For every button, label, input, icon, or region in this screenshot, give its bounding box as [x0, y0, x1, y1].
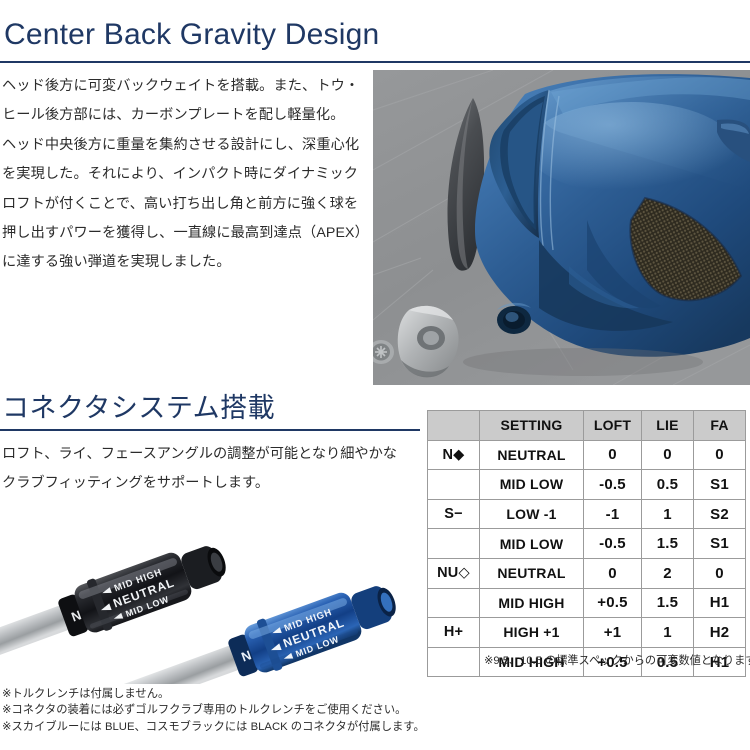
section1-line: ヒール後方部には、カーボンプレートを配し軽量化。 — [2, 101, 370, 130]
cell-fa: 0 — [694, 440, 746, 470]
section1-line: を実現した。それにより、インパクト時にダイナミック — [2, 160, 370, 189]
table-row: NU◇ NEUTRAL 0 2 0 — [428, 558, 746, 588]
cell-loft: 0 — [584, 558, 642, 588]
section1-title: Center Back Gravity Design — [4, 18, 379, 52]
table-row: S− LOW -1 -1 1 S2 — [428, 499, 746, 529]
cell-loft: 0 — [584, 440, 642, 470]
section1-line: に達する強い弾道を実現しました。 — [2, 248, 370, 277]
col-header-loft: LOFT — [584, 411, 642, 441]
section1-divider — [0, 61, 750, 63]
cell-setting: LOW -1 — [480, 499, 584, 529]
section1-line: ヘッド後方に可変バックウェイトを搭載。また、トウ・ — [2, 72, 370, 101]
section2-title: コネクタシステム搭載 — [2, 392, 275, 424]
col-header-fa: FA — [694, 411, 746, 441]
section2-line: ロフト、ライ、フェースアングルの調整が可能となり細やかな — [2, 440, 412, 469]
cell-fa: 0 — [694, 558, 746, 588]
section1-line: ロフトが付くことで、高い打ち出し角と前方に強く球を — [2, 190, 370, 219]
section2-divider — [0, 429, 420, 431]
col-header-lie: LIE — [642, 411, 694, 441]
cell-lie: 2 — [642, 558, 694, 588]
cell-loft: +0.5 — [584, 588, 642, 618]
cell-setting: MID HIGH — [480, 588, 584, 618]
cell-lie: 1.5 — [642, 588, 694, 618]
cell-loft: +1 — [584, 618, 642, 648]
connector-photo: MID HIGH NEUTRAL MID LOW N — [0, 512, 418, 684]
table-row: MID HIGH +0.5 1.5 H1 — [428, 588, 746, 618]
cell-fa: S2 — [694, 499, 746, 529]
section1-body: ヘッド後方に可変バックウェイトを搭載。また、トウ・ ヒール後方部には、カーボンプ… — [2, 72, 370, 278]
footnote-item: ※スカイブルーには BLUE、コスモブラックには BLACK のコネクタが付属し… — [2, 719, 425, 735]
club-head-photo — [373, 70, 750, 385]
spec-table-container: SETTING LOFT LIE FA N◆ NEUTRAL 0 0 0 MID… — [427, 410, 745, 677]
section1-line: 押し出すパワーを獲得し、一直線に最高到達点（APEX） — [2, 219, 370, 248]
cell-position: H+ — [428, 618, 480, 648]
cell-loft: -0.5 — [584, 470, 642, 500]
table-header-row: SETTING LOFT LIE FA — [428, 411, 746, 441]
cell-setting: NEUTRAL — [480, 558, 584, 588]
cell-lie: 1 — [642, 499, 694, 529]
cell-loft: -0.5 — [584, 529, 642, 559]
cell-position: NU◇ — [428, 558, 480, 588]
cell-position — [428, 588, 480, 618]
cell-fa: H2 — [694, 618, 746, 648]
cell-position — [428, 529, 480, 559]
cell-setting: NEUTRAL — [480, 440, 584, 470]
cell-position: N◆ — [428, 440, 480, 470]
cell-position — [428, 647, 480, 677]
cell-position: S− — [428, 499, 480, 529]
footnote-item: ※トルクレンチは付属しません。 — [2, 686, 425, 702]
cell-setting: MID LOW — [480, 529, 584, 559]
cell-lie: 1 — [642, 618, 694, 648]
cell-fa: H1 — [694, 588, 746, 618]
section2-body: ロフト、ライ、フェースアングルの調整が可能となり細やかな クラブフィッティングを… — [2, 440, 412, 499]
cell-position — [428, 470, 480, 500]
table-row: MID LOW -0.5 1.5 S1 — [428, 529, 746, 559]
spec-table-note: ※9.5、10.5 の標準スペックからの可変数値となります。 — [484, 652, 750, 668]
section2-line: クラブフィッティングをサポートします。 — [2, 469, 412, 498]
footnote-item: ※コネクタの装着には必ずゴルフクラブ専用のトルクレンチをご使用ください。 — [2, 702, 425, 718]
footnotes: ※トルクレンチは付属しません。 ※コネクタの装着には必ずゴルフクラブ専用のトルク… — [2, 686, 425, 735]
cell-lie: 1.5 — [642, 529, 694, 559]
cell-fa: S1 — [694, 470, 746, 500]
col-header-setting: SETTING — [480, 411, 584, 441]
section1-line: ヘッド中央後方に重量を集約させる設計にし、深重心化 — [2, 131, 370, 160]
col-header-position — [428, 411, 480, 441]
cell-setting: HIGH +1 — [480, 618, 584, 648]
table-row: N◆ NEUTRAL 0 0 0 — [428, 440, 746, 470]
cell-lie: 0 — [642, 440, 694, 470]
cell-loft: -1 — [584, 499, 642, 529]
adjustment-spec-table: SETTING LOFT LIE FA N◆ NEUTRAL 0 0 0 MID… — [427, 410, 746, 677]
cell-setting: MID LOW — [480, 470, 584, 500]
cell-fa: S1 — [694, 529, 746, 559]
cell-lie: 0.5 — [642, 470, 694, 500]
product-feature-page: Center Back Gravity Design ヘッド後方に可変バックウェ… — [0, 0, 750, 750]
table-row: MID LOW -0.5 0.5 S1 — [428, 470, 746, 500]
table-row: H+ HIGH +1 +1 1 H2 — [428, 618, 746, 648]
